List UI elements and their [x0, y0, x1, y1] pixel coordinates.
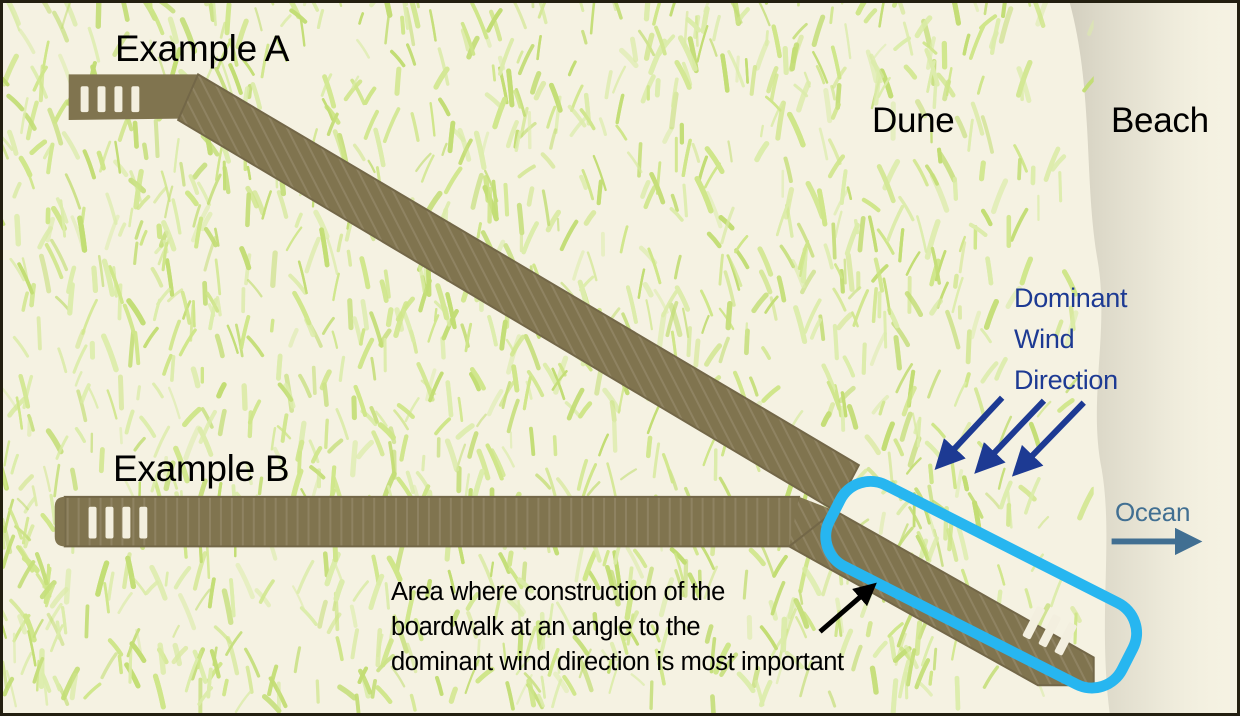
- label-beach: Beach: [1111, 101, 1209, 141]
- caption-line-1: Area where construction of the: [391, 575, 844, 610]
- wind-line-3: Direction: [1014, 360, 1127, 401]
- wind-line-2: Wind: [1014, 319, 1127, 360]
- caption-line-3: dominant wind direction is most importan…: [391, 645, 844, 680]
- wind-line-1: Dominant: [1014, 278, 1127, 319]
- label-ocean: Ocean: [1115, 497, 1190, 528]
- label-example-a: Example A: [115, 28, 289, 70]
- caption-text: Area where construction of the boardwalk…: [391, 575, 844, 680]
- wind-direction-label: Dominant Wind Direction: [1014, 278, 1127, 401]
- label-example-b: Example B: [113, 448, 289, 490]
- dune-boardwalk-diagram: Example A Example B Dune Beach Dominant …: [0, 0, 1240, 716]
- label-dune: Dune: [872, 101, 954, 141]
- caption-line-2: boardwalk at an angle to the: [391, 610, 844, 645]
